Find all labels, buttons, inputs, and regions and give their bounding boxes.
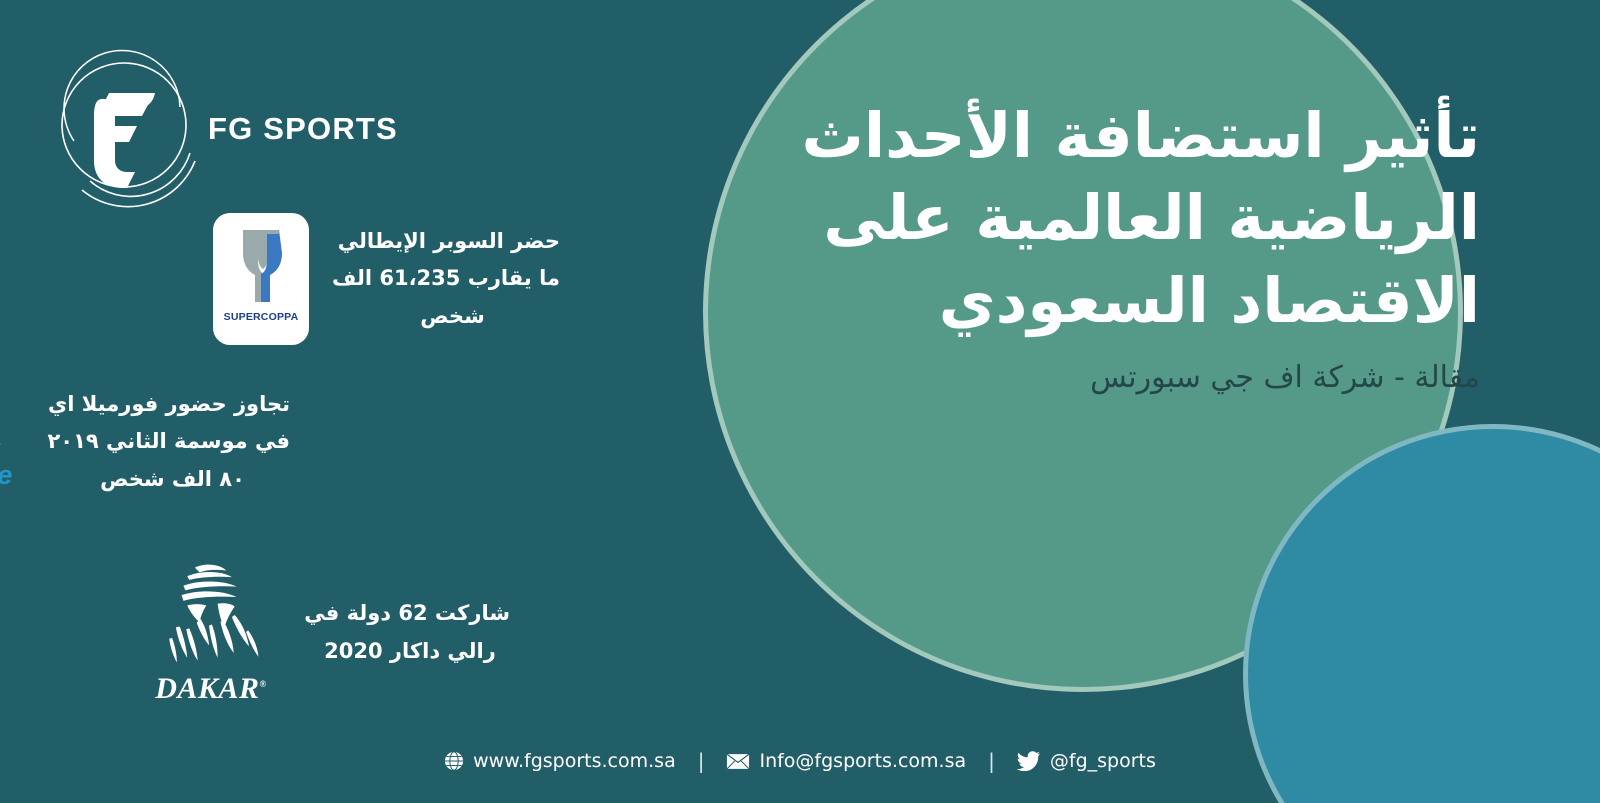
stat-line: رالي داكار 2020 (310, 633, 510, 670)
envelope-icon (726, 753, 750, 770)
stat-dakar-text: شاركت 62 دولة في رالي داكار 2020 (310, 595, 510, 670)
supercoppa-label: SUPERCOPPA (224, 311, 299, 323)
subtitle: مقالة - شركة اف جي سبورتس (780, 358, 1480, 397)
headline-line-3: الاقتصاد السعودي (780, 260, 1480, 342)
stat-line: شاركت 62 دولة في (310, 595, 510, 632)
headline-line-2: الرياضية العالمية على (780, 177, 1480, 259)
formula-e-wordmark: formula·e (0, 460, 14, 491)
poster-canvas: FG SPORTS تأثير استضافة الأحداث الرياضية… (0, 0, 1600, 803)
headline-line-1: تأثير استضافة الأحداث (780, 95, 1480, 177)
stat-line: حضر السوبر الإيطالي (345, 223, 560, 260)
footer-separator: | (988, 749, 995, 773)
stat-supercoppa: حضر السوبر الإيطالي ما يقارب 61،235 الف … (213, 213, 560, 345)
stat-line: شخص (345, 298, 560, 335)
stat-dakar: شاركت 62 دولة في رالي داكار 2020 (152, 560, 510, 705)
brand-logo: FG SPORTS (52, 46, 382, 211)
supercoppa-trophy-icon (230, 224, 292, 308)
formula-e-logo: formula·e (0, 390, 21, 495)
footer-contact-bar: www.fgsports.com.sa | Info@fgsports.com.… (0, 749, 1600, 773)
fg-monogram-swoosh-icon (52, 49, 202, 209)
stat-line: تجاوز حضور فورميلا اي (55, 386, 290, 423)
globe-icon (444, 751, 464, 771)
decorative-circle-blue (1243, 424, 1600, 803)
supercoppa-card: SUPERCOPPA (213, 213, 309, 345)
dakar-wordmark: DAKAR® (155, 672, 266, 706)
stat-supercoppa-text: حضر السوبر الإيطالي ما يقارب 61،235 الف … (345, 223, 560, 335)
stat-line: ٨٠ الف شخص (55, 461, 290, 498)
footer-email[interactable]: Info@fgsports.com.sa (726, 750, 966, 772)
footer-separator: | (698, 749, 705, 773)
footer-website-text: www.fgsports.com.sa (473, 750, 676, 772)
brand-name: FG SPORTS (208, 111, 398, 147)
page-title: تأثير استضافة الأحداث الرياضية العالمية … (780, 95, 1480, 342)
footer-twitter-text: @fg_sports (1050, 750, 1156, 772)
dakar-tuareg-head-icon (156, 560, 266, 676)
stat-formula-e: تجاوز حضور فورميلا اي في موسمة الثاني ٢٠… (0, 386, 290, 498)
footer-twitter[interactable]: @fg_sports (1017, 750, 1156, 772)
footer-email-text: Info@fgsports.com.sa (759, 750, 966, 772)
stat-formula-e-text: تجاوز حضور فورميلا اي في موسمة الثاني ٢٠… (55, 386, 290, 498)
dakar-logo: DAKAR® (152, 560, 270, 705)
stat-line: في موسمة الثاني ٢٠١٩ (55, 423, 290, 460)
footer-website[interactable]: www.fgsports.com.sa (444, 750, 676, 772)
twitter-bird-icon (1017, 751, 1041, 771)
stat-line: ما يقارب 61،235 الف (345, 260, 560, 297)
formula-e-icon (0, 393, 20, 459)
headline-block: تأثير استضافة الأحداث الرياضية العالمية … (780, 95, 1480, 397)
supercoppa-logo: SUPERCOPPA (213, 213, 309, 345)
